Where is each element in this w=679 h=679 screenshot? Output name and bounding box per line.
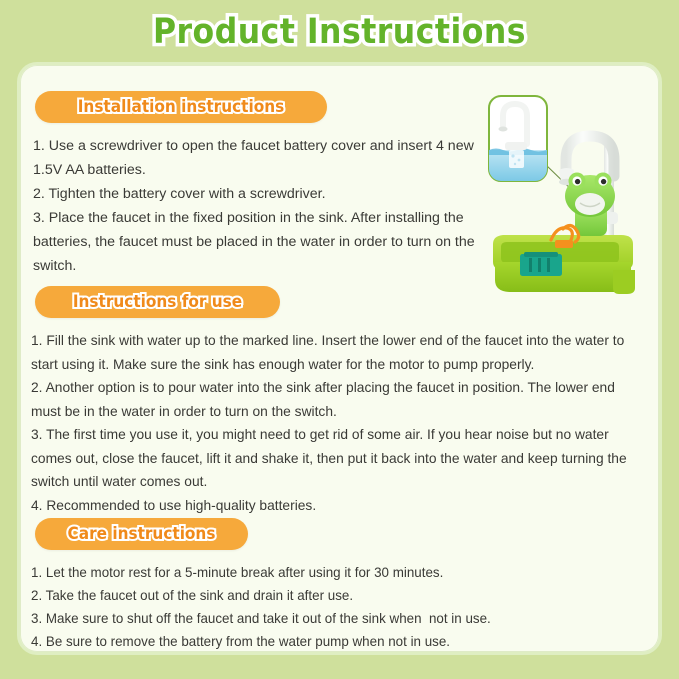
product-instructions-page: Product Instructions Installation instru…	[0, 0, 679, 679]
sink-body-front	[495, 262, 631, 292]
teal-dish-rack	[520, 252, 562, 276]
section-heading-label: Care instructions	[68, 524, 216, 544]
installation-instructions-text: 1. Use a screwdriver to open the faucet …	[33, 134, 485, 278]
frog-muzzle	[575, 193, 605, 215]
section-heading-label: Instructions for use	[73, 292, 242, 312]
page-title: Product Instructions	[153, 12, 526, 52]
callout-faucet-base	[505, 142, 527, 150]
callout-pump-filter	[509, 150, 524, 168]
section-heading-installation: Installation instructions	[35, 91, 327, 123]
section-heading-use: Instructions for use	[35, 286, 280, 318]
sink-leg-right	[613, 270, 635, 294]
product-photo	[485, 92, 655, 300]
section-heading-label: Installation instructions	[78, 97, 284, 117]
section-heading-care: Care instructions	[35, 518, 248, 550]
page-title-wrap: Product Instructions	[0, 8, 679, 56]
care-instructions-text: 1. Let the motor rest for a 5-minute bre…	[31, 561, 642, 653]
faucet-detail-callout	[489, 96, 547, 181]
use-instructions-text: 1. Fill the sink with water up to the ma…	[31, 329, 642, 517]
